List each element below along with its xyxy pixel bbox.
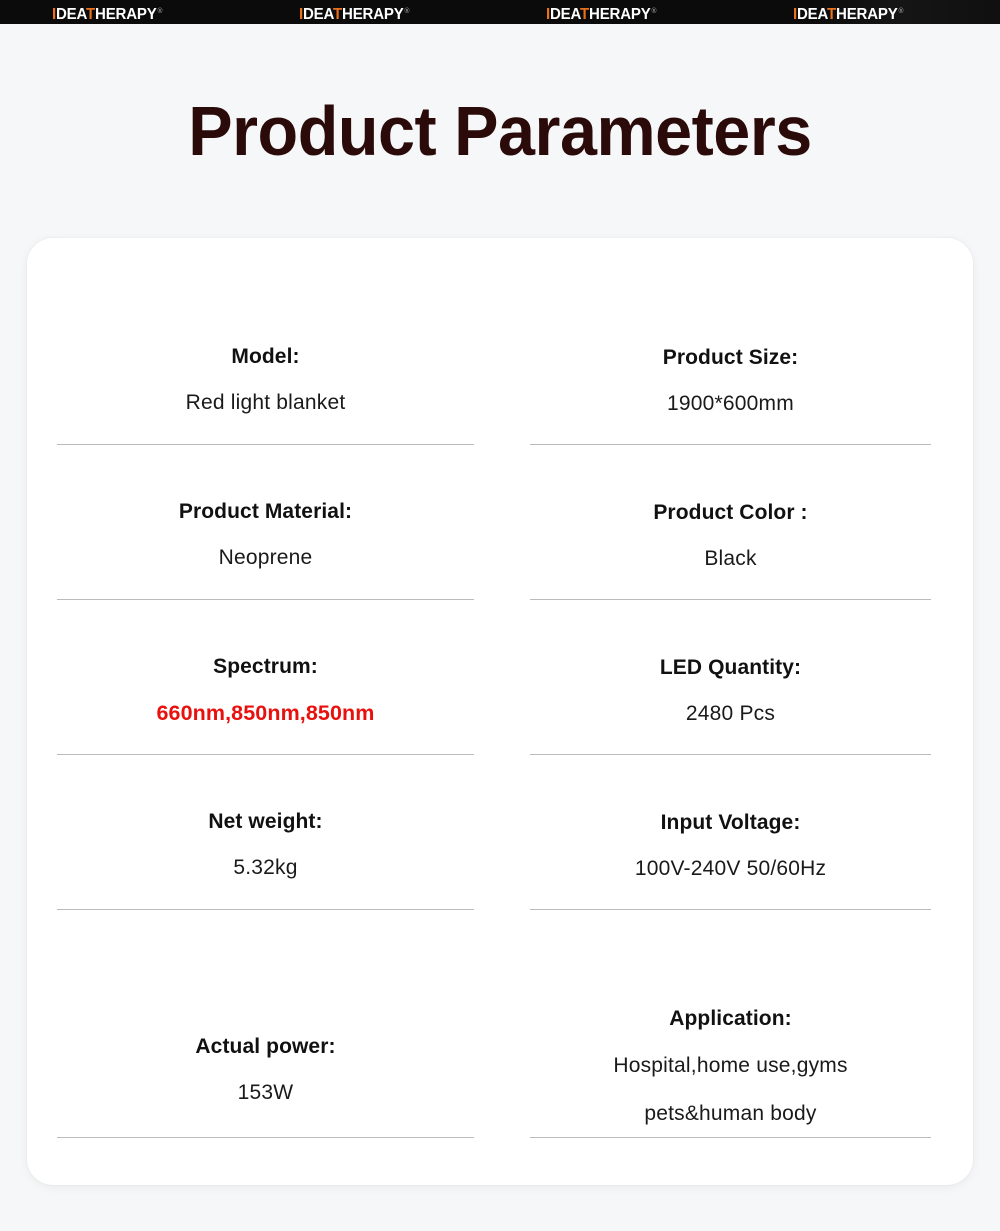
param-label: Actual power: — [195, 1034, 335, 1060]
param-row-led-quantity: LED Quantity: 2480 Pcs — [530, 600, 931, 755]
param-label: Net weight: — [208, 809, 322, 835]
param-row-application: Application: Hospital,home use,gyms pets… — [530, 910, 931, 1138]
brand-logo: IDEATHERAPY® — [546, 3, 656, 24]
param-value-line-1: Hospital,home use,gyms — [613, 1042, 847, 1090]
brand-logo-letters-dea: DEA — [303, 6, 333, 23]
brand-logo-letters-herapy: HERAPY — [95, 6, 157, 23]
param-value: Black — [704, 544, 756, 574]
param-value: 100V-240V 50/60Hz — [635, 854, 826, 884]
page-title: Product Parameters — [25, 88, 975, 174]
param-label: LED Quantity: — [660, 655, 801, 681]
brand-logo-letters-dea: DEA — [797, 6, 827, 23]
brand-logo-letters-herapy: HERAPY — [342, 6, 404, 23]
brand-bar: IDEATHERAPY® IDEATHERAPY® IDEATHERAPY® I… — [0, 0, 1000, 24]
column-top-spacer — [57, 238, 474, 290]
param-label: Product Size: — [663, 345, 798, 371]
param-label: Spectrum: — [213, 654, 318, 680]
param-value: Red light blanket — [186, 388, 346, 418]
brand-logo: IDEATHERAPY® — [52, 3, 162, 24]
param-value: 1900*600mm — [667, 389, 794, 419]
param-label: Product Material: — [179, 499, 352, 525]
param-row-input-voltage: Input Voltage: 100V-240V 50/60Hz — [530, 755, 931, 910]
param-value: 2480 Pcs — [686, 699, 775, 729]
param-row-net-weight: Net weight: 5.32kg — [57, 755, 474, 910]
registered-trademark-icon: ® — [405, 8, 410, 15]
param-value: Neoprene — [219, 543, 313, 573]
brand-logo-letters-herapy: HERAPY — [836, 6, 898, 23]
param-label: Input Voltage: — [661, 810, 801, 836]
brand-logo: IDEATHERAPY® — [793, 3, 903, 24]
param-value-highlighted: 660nm,850nm,850nm — [156, 698, 374, 728]
param-label: Application: — [669, 1006, 792, 1032]
param-label: Product Color : — [653, 500, 807, 526]
param-value-multiline: Hospital,home use,gyms pets&human body — [613, 1042, 847, 1138]
registered-trademark-icon: ® — [652, 8, 657, 15]
param-row-product-color: Product Color : Black — [530, 445, 931, 600]
brand-logo-letters-herapy: HERAPY — [589, 6, 651, 23]
param-row-product-material: Product Material: Neoprene — [57, 445, 474, 600]
param-row-spectrum: Spectrum: 660nm,850nm,850nm — [57, 600, 474, 755]
param-value: 5.32kg — [233, 853, 297, 883]
param-value: 153W — [238, 1078, 294, 1108]
param-value-line-2: pets&human body — [613, 1090, 847, 1138]
param-row-product-size: Product Size: 1900*600mm — [530, 290, 931, 445]
brand-logo-letters-dea: DEA — [550, 6, 580, 23]
brand-logo: IDEATHERAPY® — [299, 3, 409, 24]
product-parameters-card: Model: Red light blanket Product Materia… — [27, 238, 973, 1185]
param-row-actual-power: Actual power: 153W — [57, 910, 474, 1138]
brand-logo-letters-dea: DEA — [56, 6, 86, 23]
parameters-grid: Model: Red light blanket Product Materia… — [27, 238, 973, 1138]
registered-trademark-icon: ® — [158, 8, 163, 15]
column-top-spacer — [530, 238, 931, 290]
parameters-left-column: Model: Red light blanket Product Materia… — [27, 238, 500, 1138]
parameters-right-column: Product Size: 1900*600mm Product Color :… — [500, 238, 973, 1138]
param-row-model: Model: Red light blanket — [57, 290, 474, 445]
param-label: Model: — [231, 344, 299, 370]
registered-trademark-icon: ® — [899, 8, 904, 15]
